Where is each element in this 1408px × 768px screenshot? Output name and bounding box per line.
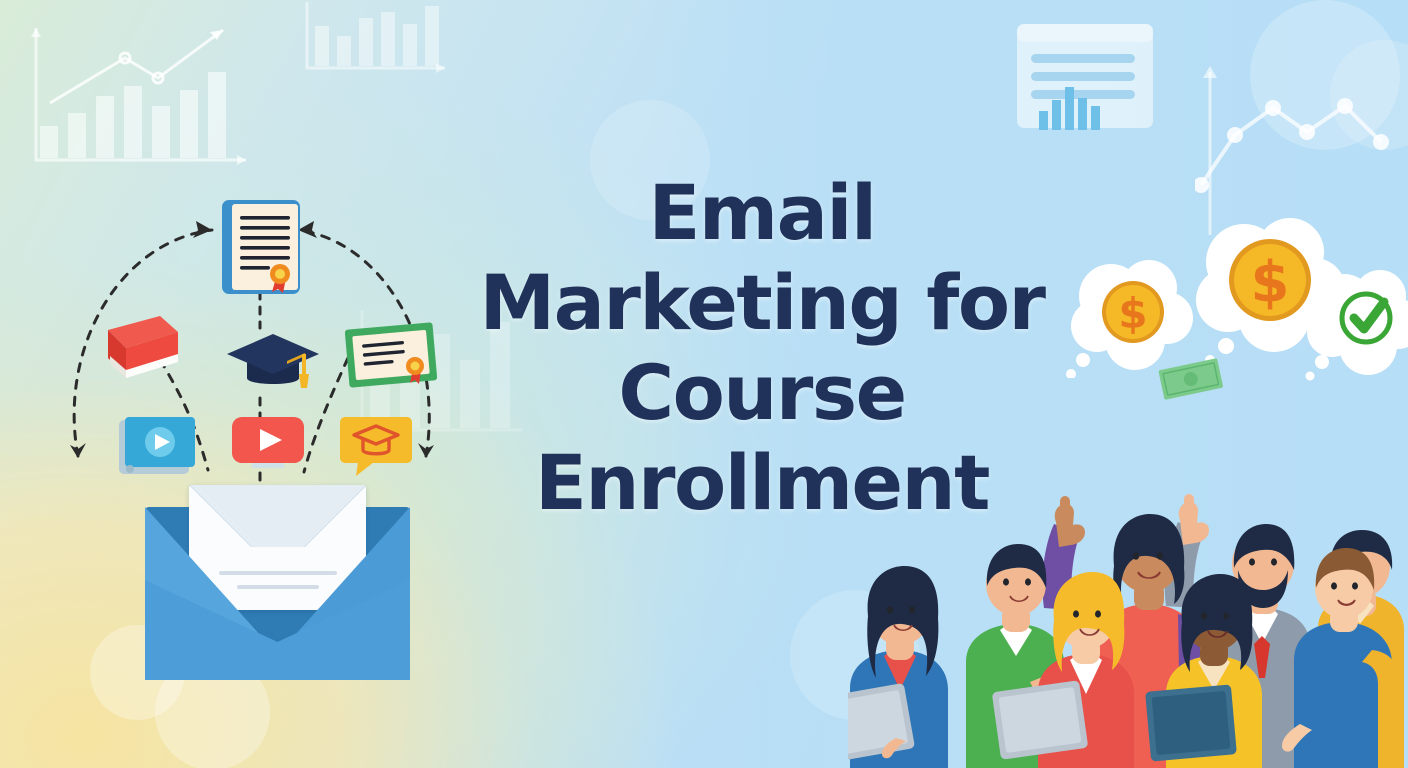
- floating-banknote-icon: [1158, 356, 1224, 404]
- red-book-icon: [98, 312, 182, 382]
- video-play-button-icon: [230, 416, 306, 472]
- open-envelope-with-letter: [145, 485, 410, 680]
- email-course-content-diagram: [40, 160, 460, 720]
- person-1-woman-blue-jacket: [848, 566, 948, 768]
- svg-text:$: $: [1251, 250, 1290, 315]
- thought-bubble-check-icon: [1300, 258, 1408, 383]
- course-certificate-icon: [345, 320, 437, 390]
- graduation-cap-icon: [225, 328, 321, 396]
- education-chat-bubble-icon: [338, 416, 414, 478]
- tablet-device-3: [1145, 684, 1237, 761]
- students-crowd-illustration: [848, 438, 1408, 768]
- poster-canvas: Email Marketing for Course Enrollment: [0, 0, 1408, 768]
- tablet-device-2: [992, 680, 1089, 760]
- enthusiastic-students-group: $ $: [848, 208, 1408, 768]
- diploma-certificate-icon: [218, 198, 304, 298]
- video-lesson-icon: [118, 416, 196, 478]
- svg-text:$: $: [1118, 289, 1147, 338]
